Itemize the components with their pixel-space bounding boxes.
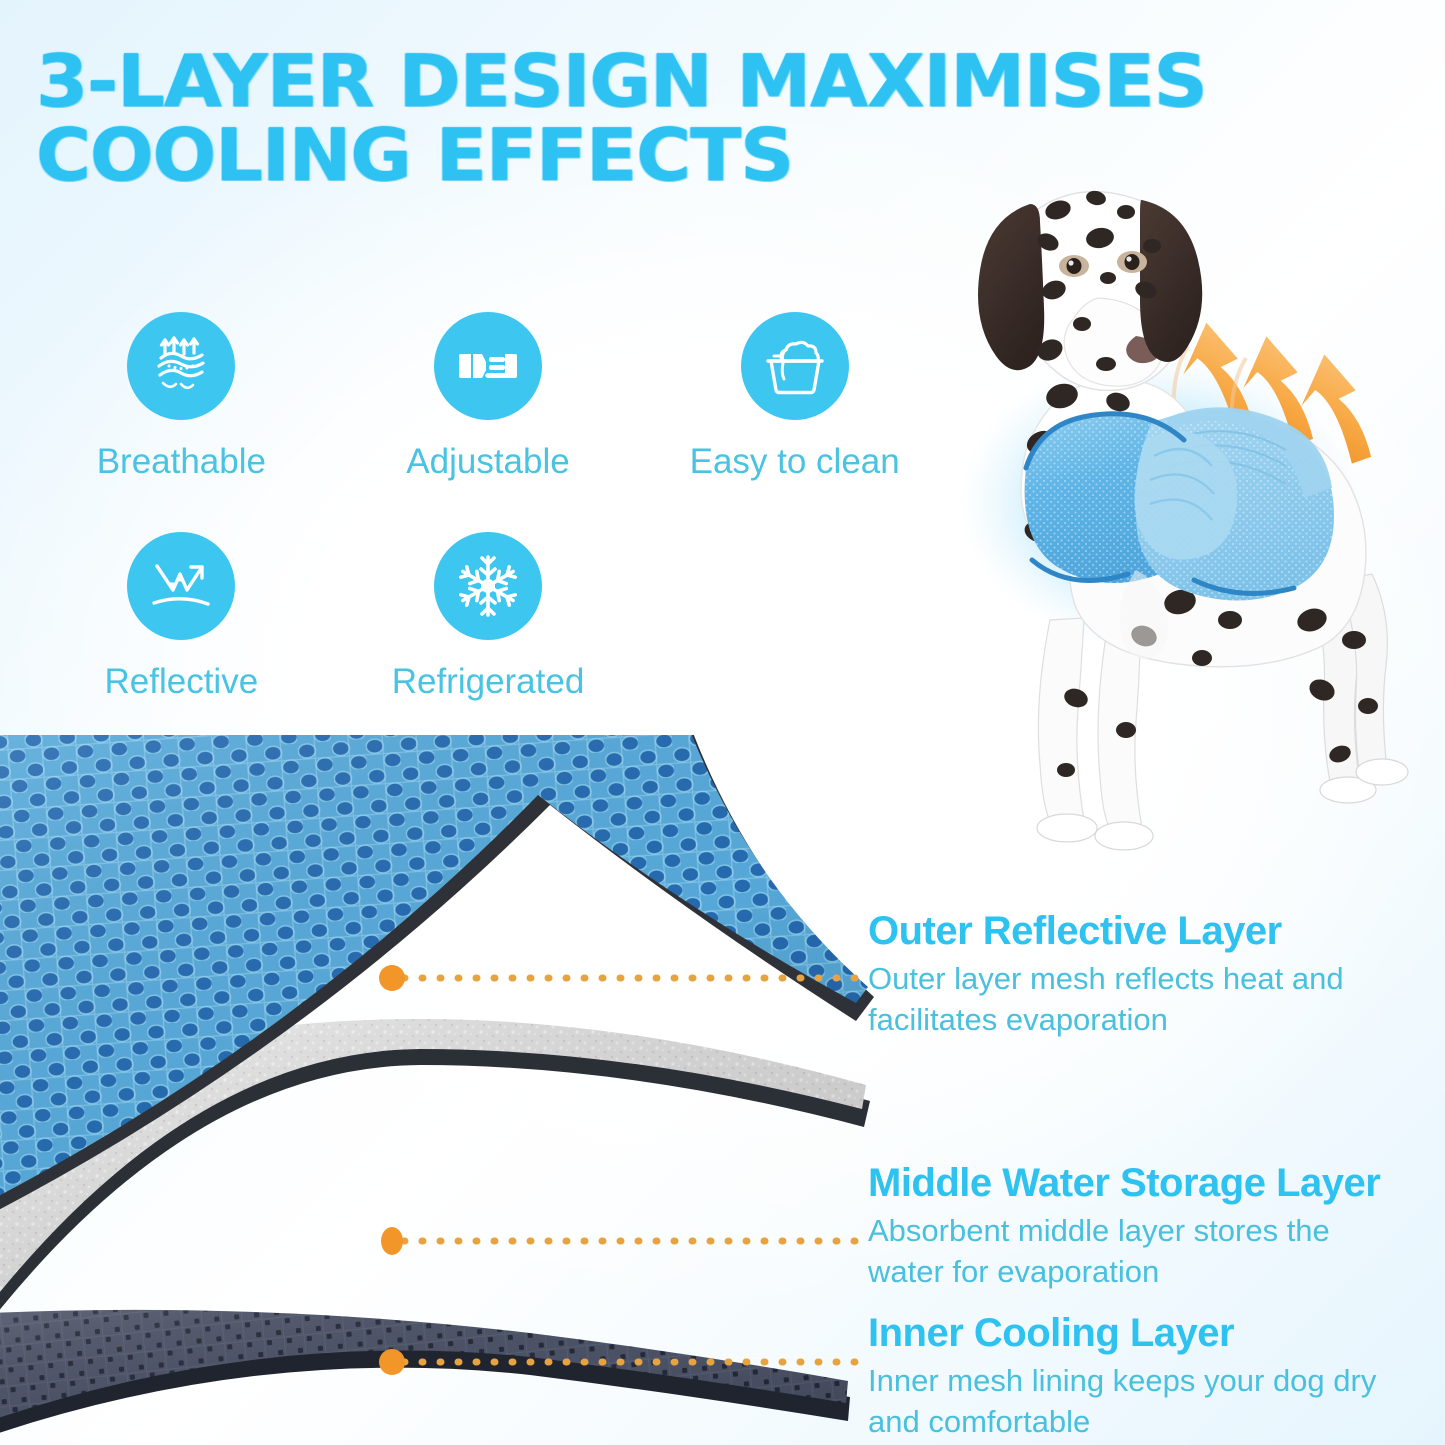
feature-label: Breathable [97, 442, 266, 482]
callout-title: Inner Cooling Layer [868, 1310, 1388, 1356]
feature-adjustable: Adjustable [335, 312, 642, 532]
breathable-fabric-icon [127, 312, 235, 420]
callout-outer-layer: Outer Reflective Layer Outer layer mesh … [868, 908, 1388, 1040]
feature-row-2: Reflective [28, 532, 948, 752]
headline-line-1: 3-LAYER DESIGN MAXIMISES [36, 44, 1201, 118]
feature-easy-to-clean: Easy to clean [641, 312, 948, 532]
feature-label: Easy to clean [690, 442, 900, 482]
feature-reflective: Reflective [28, 532, 335, 752]
layer-swatch-inner [0, 1310, 850, 1445]
product-photo-dog [930, 150, 1430, 880]
infographic-page: 3-LAYER DESIGN MAXIMISES COOLING EFFECTS [0, 0, 1445, 1445]
callout-inner-layer: Inner Cooling Layer Inner mesh lining ke… [868, 1310, 1388, 1442]
callout-middle-layer: Middle Water Storage Layer Absorbent mid… [868, 1160, 1388, 1292]
fabric-layer-stack [0, 735, 890, 1445]
feature-breathable: Breathable [28, 312, 335, 532]
reflect-arrows-icon [127, 532, 235, 640]
feature-refrigerated: Refrigerated [335, 532, 642, 752]
callout-body: Outer layer mesh reflects heat and facil… [868, 958, 1388, 1040]
feature-label: Reflective [105, 662, 259, 702]
callout-title: Outer Reflective Layer [868, 908, 1388, 954]
buckle-icon [434, 312, 542, 420]
callout-body: Absorbent middle layer stores the water … [868, 1210, 1388, 1292]
feature-row-1: Breathable Adjustable [28, 312, 948, 532]
callout-body: Inner mesh lining keeps your dog dry and… [868, 1360, 1388, 1442]
callout-title: Middle Water Storage Layer [868, 1160, 1388, 1206]
snowflake-icon [434, 532, 542, 640]
feature-grid: Breathable Adjustable [28, 312, 948, 752]
wash-basin-icon [741, 312, 849, 420]
feature-slot-empty [641, 532, 948, 752]
feature-label: Adjustable [406, 442, 569, 482]
feature-label: Refrigerated [392, 662, 585, 702]
